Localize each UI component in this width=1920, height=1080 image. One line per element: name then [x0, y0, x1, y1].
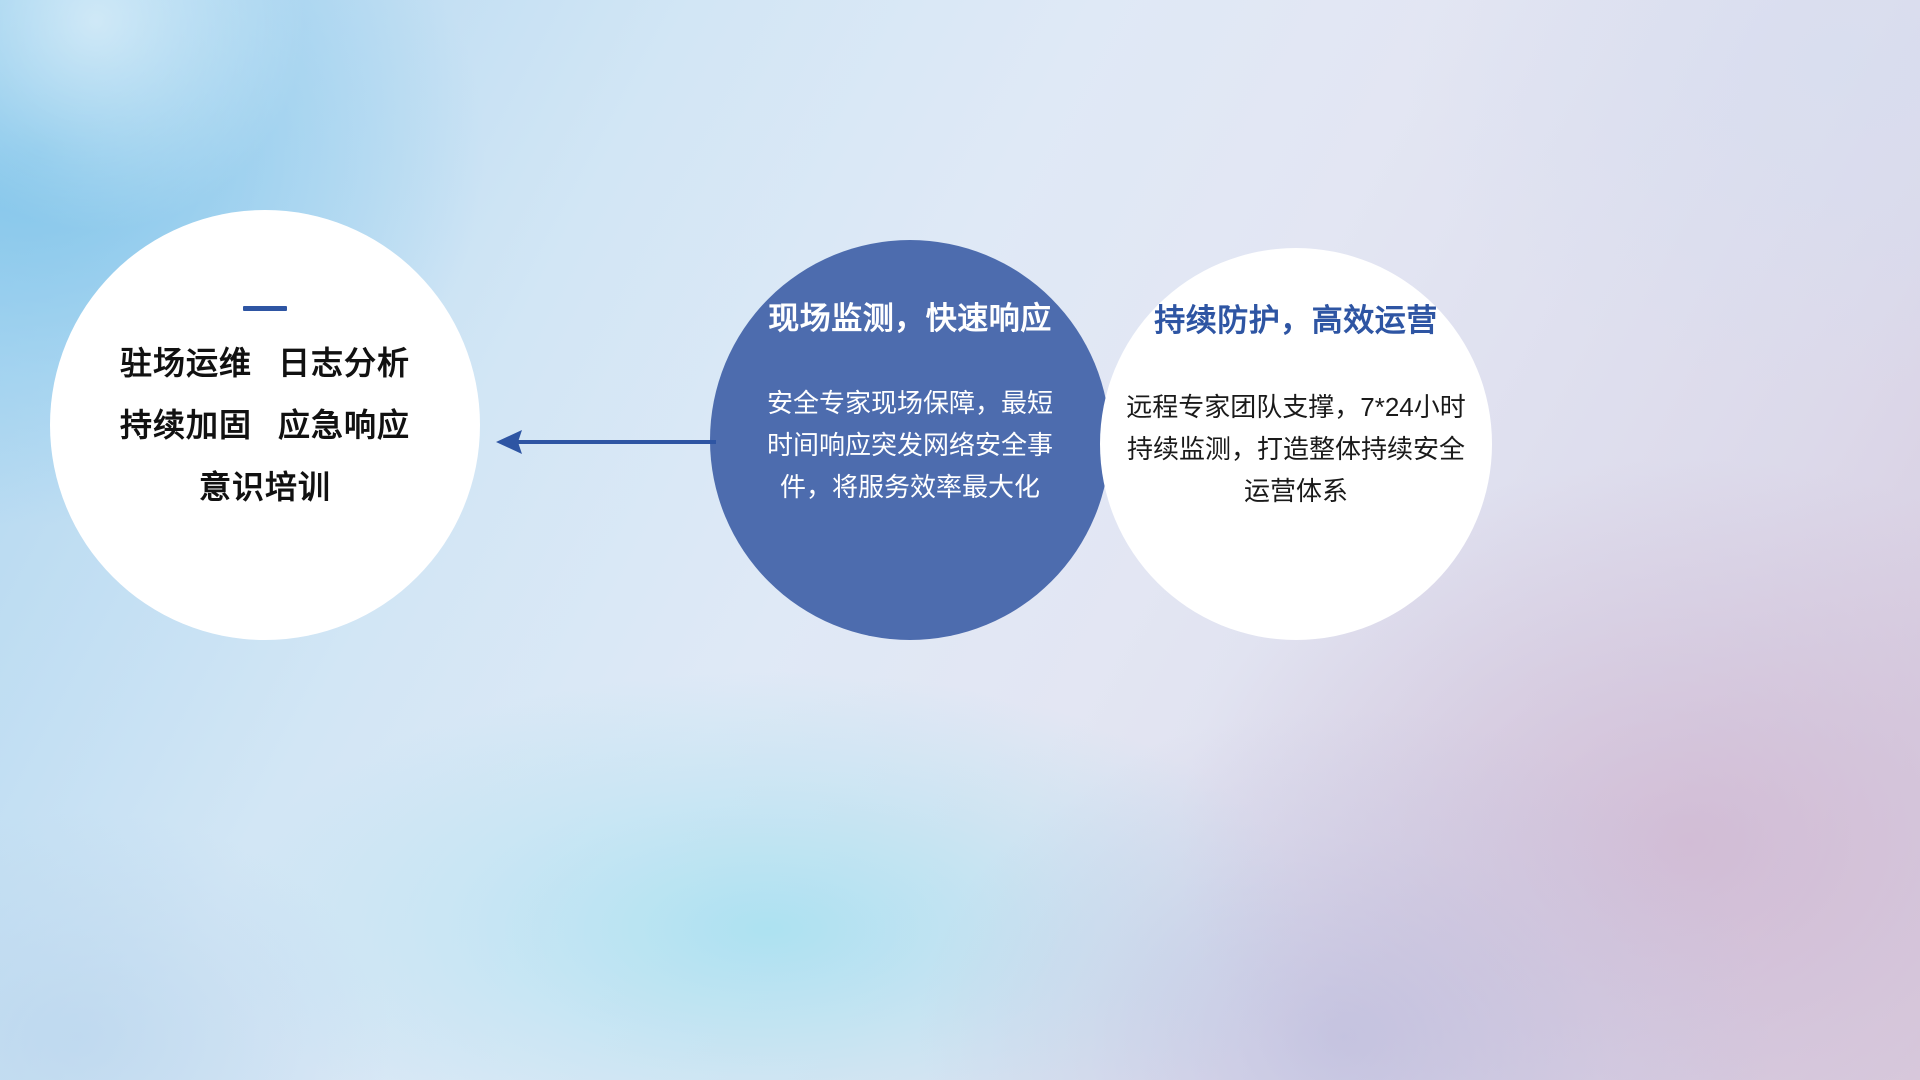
left-arrow-connector [488, 418, 718, 466]
left-circle-item-3: 持续加固 [120, 407, 252, 443]
slide-canvas: 驻场运维日志分析 持续加固应急响应 意识培训 现场监测，快速响应 安全专家现场保… [0, 0, 1920, 1080]
left-circle-item-2: 日志分析 [278, 345, 410, 381]
right-circle-content: 持续防护，高效运营 远程专家团队支撑，7*24小时持续监测，打造整体持续安全运营… [1100, 248, 1492, 640]
left-circle-line-1: 驻场运维日志分析 [120, 347, 410, 379]
right-circle-body: 远程专家团队支撑，7*24小时持续监测，打造整体持续安全运营体系 [1121, 386, 1471, 512]
left-circle-item-5: 意识培训 [199, 469, 331, 505]
middle-circle-body: 安全专家现场保障，最短时间响应突发网络安全事件，将服务效率最大化 [755, 382, 1065, 508]
left-circle-line-3: 意识培训 [199, 471, 331, 503]
accent-dash-icon [243, 306, 287, 311]
left-circle-item-4: 应急响应 [278, 407, 410, 443]
left-circle-line-2: 持续加固应急响应 [120, 409, 410, 441]
middle-circle-content: 现场监测，快速响应 安全专家现场保障，最短时间响应突发网络安全事件，将服务效率最… [700, 240, 1120, 640]
left-circle-item-1: 驻场运维 [120, 345, 252, 381]
right-circle-title: 持续防护，高效运营 [1154, 304, 1438, 338]
middle-circle-title: 现场监测，快速响应 [768, 302, 1052, 336]
left-circle-content: 驻场运维日志分析 持续加固应急响应 意识培训 [50, 210, 480, 640]
